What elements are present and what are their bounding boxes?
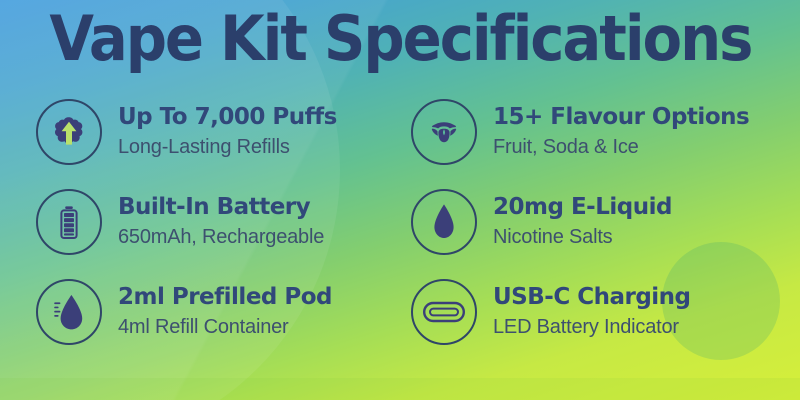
feature-item-usbc: USB-C Charging LED Battery Indicator [400, 273, 800, 351]
feature-text-eliquid: 20mg E-Liquid Nicotine Salts [493, 194, 672, 249]
feature-subtitle: Nicotine Salts [493, 224, 672, 250]
feature-title: 20mg E-Liquid [493, 194, 672, 221]
feature-subtitle: 650mAh, Rechargeable [118, 224, 324, 250]
feature-title: Up To 7,000 Puffs [118, 104, 337, 131]
feature-text-pod: 2ml Prefilled Pod 4ml Refill Container [118, 284, 332, 339]
feature-subtitle: 4ml Refill Container [118, 314, 332, 340]
liquid-droplet-icon [411, 189, 477, 255]
feature-title: 15+ Flavour Options [493, 104, 749, 131]
feature-text-puffs: Up To 7,000 Puffs Long-Lasting Refills [118, 104, 337, 159]
feature-text-usbc: USB-C Charging LED Battery Indicator [493, 284, 691, 339]
droplet-measure-icon [36, 279, 102, 345]
feature-grid: Up To 7,000 Puffs Long-Lasting Refills [0, 93, 800, 378]
feature-title: Built-In Battery [118, 194, 324, 221]
vapor-cloud-arrow-up-icon [36, 99, 102, 165]
feature-item-battery: Built-In Battery 650mAh, Rechargeable [0, 183, 400, 261]
decorative-bottom-strip [0, 378, 800, 400]
feature-title: USB-C Charging [493, 284, 691, 311]
feature-item-puffs: Up To 7,000 Puffs Long-Lasting Refills [0, 93, 400, 171]
feature-title: 2ml Prefilled Pod [118, 284, 332, 311]
feature-subtitle: LED Battery Indicator [493, 314, 691, 340]
feature-subtitle: Long-Lasting Refills [118, 134, 337, 160]
mouth-tongue-taste-icon [411, 99, 477, 165]
feature-text-flavours: 15+ Flavour Options Fruit, Soda & Ice [493, 104, 749, 159]
usb-c-port-icon [411, 279, 477, 345]
feature-text-battery: Built-In Battery 650mAh, Rechargeable [118, 194, 324, 249]
feature-subtitle: Fruit, Soda & Ice [493, 134, 749, 160]
feature-item-pod: 2ml Prefilled Pod 4ml Refill Container [0, 273, 400, 351]
battery-icon [36, 189, 102, 255]
feature-item-flavours: 15+ Flavour Options Fruit, Soda & Ice [400, 93, 800, 171]
feature-item-eliquid: 20mg E-Liquid Nicotine Salts [400, 183, 800, 261]
page-title: Vape Kit Specifications [49, 6, 751, 71]
page-title-container: Vape Kit Specifications [0, 6, 800, 71]
vape-kit-specifications-poster: Vape Kit Specifications Up To 7,000 Puff… [0, 0, 800, 400]
